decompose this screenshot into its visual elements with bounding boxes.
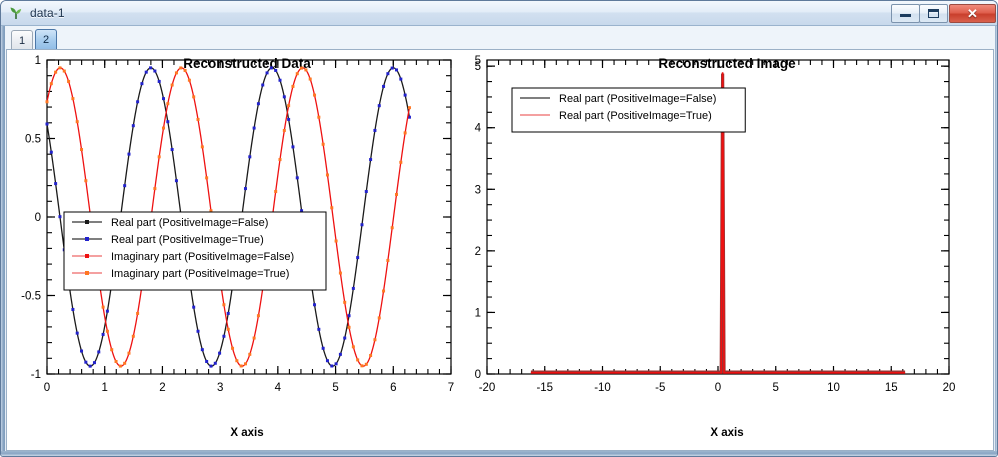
right-ytick: 0 (475, 369, 481, 381)
tab-2-label: 2 (43, 34, 49, 46)
application-window: data-1 ✕ 1 2 (0, 0, 998, 457)
left-legend-label: Real part (PositiveImage=False) (111, 217, 268, 229)
minimize-button[interactable] (891, 4, 920, 23)
right-xtick: -20 (479, 382, 496, 394)
right-ytick: 1 (475, 307, 481, 319)
left-ytick: 0 (35, 212, 41, 224)
left-legend-swatch-marker (85, 254, 89, 258)
left-legend-label: Real part (PositiveImage=True) (111, 234, 264, 246)
right-ytick: 4 (475, 123, 482, 135)
right-xtick: -15 (536, 382, 553, 394)
left-legend-swatch-marker (85, 271, 89, 275)
left-xtick: 7 (448, 382, 454, 394)
left-xtick: 2 (159, 382, 165, 394)
tab-2[interactable]: 2 (35, 29, 57, 50)
right-xtick: 20 (943, 382, 956, 394)
left-legend: Real part (PositiveImage=False)Real part… (64, 212, 326, 290)
right-ytick: 3 (475, 184, 481, 196)
close-icon: ✕ (967, 7, 978, 20)
xaxis-label-right: X axis (710, 427, 743, 439)
right-xtick: 0 (715, 382, 721, 394)
window-controls: ✕ (892, 3, 996, 23)
left-legend-label: Imaginary part (PositiveImage=True) (111, 268, 289, 280)
left-legend-swatch-marker (85, 220, 89, 224)
left-ytick: 0.5 (25, 134, 41, 146)
tab-1-label: 1 (19, 35, 25, 47)
left-xtick: 5 (332, 382, 338, 394)
left-legend-swatch-marker (85, 237, 89, 241)
right-legend-label: Real part (PositiveImage=True) (559, 110, 712, 122)
right-xtick: 10 (827, 382, 840, 394)
right-ytick: 2 (475, 246, 481, 258)
charts-svg: Reconstructed Data 01234567-1-0.500.51 X… (7, 50, 993, 450)
chart-title-left: Reconstructed Data (183, 56, 311, 71)
window-titlebar[interactable]: data-1 ✕ (1, 1, 998, 26)
right-xtick: 5 (773, 382, 779, 394)
left-xtick: 6 (390, 382, 396, 394)
left-ytick: -1 (31, 369, 41, 381)
left-ytick: 1 (35, 55, 41, 67)
right-legend: Real part (PositiveImage=False)Real part… (512, 88, 745, 132)
left-legend-label: Imaginary part (PositiveImage=False) (111, 251, 294, 263)
left-xtick: 0 (44, 382, 50, 394)
right-xtick: -10 (594, 382, 611, 394)
right-xtick: 15 (885, 382, 898, 394)
right-ytick-top: 5 (475, 55, 481, 67)
xaxis-label-left: X axis (230, 427, 263, 439)
left-ytick: -0.5 (21, 291, 41, 303)
sprout-icon (8, 5, 24, 21)
client-area: 1 2 Reconstructed Data 01234567-1-0.500.… (5, 26, 995, 454)
window-title: data-1 (30, 6, 65, 20)
plot-canvas: Reconstructed Data 01234567-1-0.500.51 X… (6, 49, 994, 451)
minimize-icon (900, 14, 911, 17)
right-legend-label: Real part (PositiveImage=False) (559, 93, 716, 105)
chart-reconstructed-image: Reconstructed Image -20-15-10-5051015200… (475, 55, 956, 439)
right-xtick: -5 (655, 382, 665, 394)
tab-1[interactable]: 1 (11, 30, 33, 50)
tab-strip: 1 2 (5, 26, 995, 50)
chart-reconstructed-data: Reconstructed Data 01234567-1-0.500.51 X… (21, 55, 454, 439)
maximize-icon (928, 9, 939, 18)
left-xtick: 3 (217, 382, 223, 394)
left-xtick: 1 (102, 382, 108, 394)
window-bottom-border (1, 451, 998, 456)
maximize-button[interactable] (919, 4, 948, 23)
left-xtick: 4 (275, 382, 282, 394)
close-button[interactable]: ✕ (949, 4, 996, 23)
